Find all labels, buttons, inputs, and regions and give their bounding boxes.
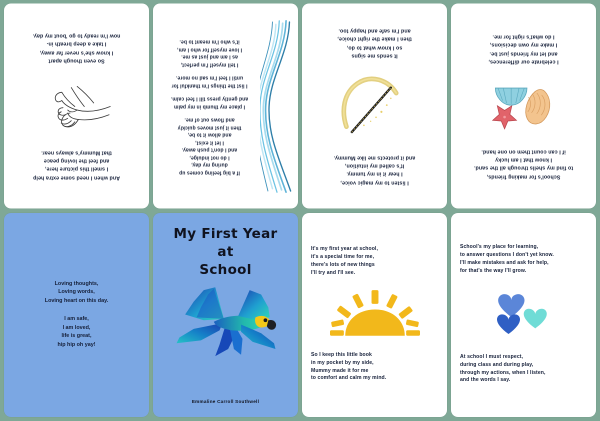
card-first-year[interactable]: It's my first year at school, it's a spe… (302, 213, 447, 418)
stanza-top: School's for making friends, to find my … (460, 147, 587, 180)
seashells-icon (460, 81, 587, 131)
stanza-bottom: I celebrate our differences, and let my … (460, 32, 587, 65)
stanza-top: Loving thoughts, Loving words, Loving he… (13, 280, 140, 306)
stanza-bottom: At school I must respect, during class a… (460, 354, 587, 386)
card-cover[interactable]: My First Year at School (153, 213, 298, 418)
card-sheet: And when I need some extra help I smell … (0, 0, 600, 421)
card-affirmations[interactable]: Loving thoughts, Loving words, Loving he… (4, 213, 149, 418)
sun-icon (311, 290, 438, 340)
card-big-feelings[interactable]: If a big feeling comes up during my day,… (153, 4, 298, 209)
stanza-3: I list the things I'm thankful for until… (159, 73, 260, 88)
card-friends[interactable]: School's for making friends, to find my … (451, 4, 596, 209)
macaw-bird-icon (172, 283, 280, 359)
stanza-4: I tell myself I'm perfect, as I am and j… (159, 37, 260, 67)
magic-wand-icon (311, 75, 438, 137)
card-intuition[interactable]: I listen to my magic voice, I hear it in… (302, 4, 447, 209)
stanza-bottom: So I keep this little book in my pocket … (311, 352, 438, 384)
stanza-top: It's my first year at school, it's a spe… (311, 246, 438, 278)
card-calm-breath[interactable]: And when I need some extra help I smell … (4, 4, 149, 209)
hands-thumb-in-palm-icon (13, 80, 140, 132)
stanza-2: I place my thumb in my palm and gently p… (159, 94, 260, 109)
three-hearts-icon (460, 290, 587, 340)
stanza-top: I listen to my magic voice, I hear it in… (311, 153, 438, 186)
stanza-bottom: It sends me signs so I know what to do, … (311, 26, 438, 59)
stanza-top: And when I need some extra help I smell … (13, 148, 140, 181)
stanza-top: School's my place for learning, to answe… (460, 244, 587, 276)
book-title: My First Year at School (162, 225, 289, 280)
card-learning-respect[interactable]: School's my place for learning, to answe… (451, 213, 596, 418)
stanza-1: If a big feeling comes up during my day,… (159, 115, 260, 175)
stanza-bottom: So even though apart I know she's never … (13, 31, 140, 64)
stanza-bottom: I am safe, I am loved, life is great, hi… (13, 315, 140, 350)
flowing-waves-icon (260, 11, 294, 202)
author-name: Emmaline Carroll Southwell (162, 399, 289, 404)
